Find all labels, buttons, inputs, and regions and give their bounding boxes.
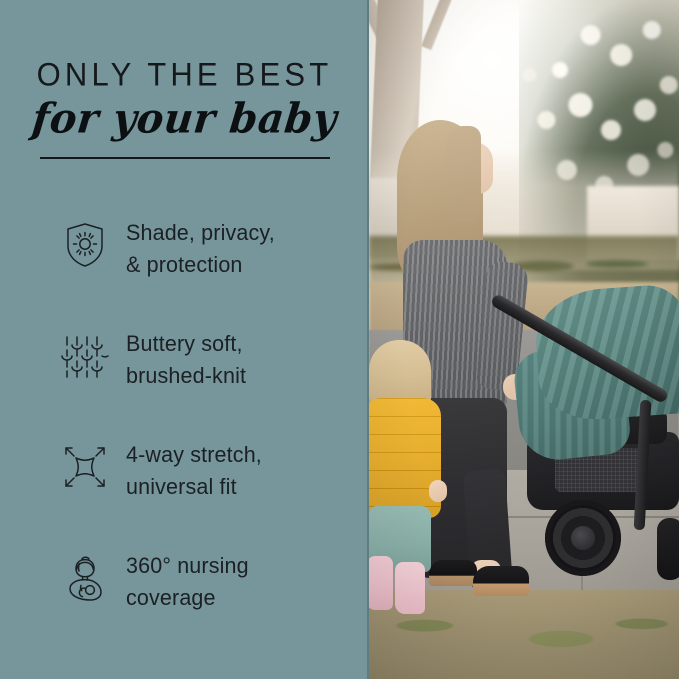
photo-woman-clog [429,560,477,586]
page-title: ONLY THE BEST [0,58,369,92]
photo-toddler-hand [429,480,447,502]
product-feature-graphic: ONLY THE BEST for your baby [0,0,679,679]
feature-list: Shade, privacy, & protection [0,208,369,652]
shield-sun-icon [58,216,112,274]
knit-stitch-icon [58,327,112,385]
photo-woman-clog [473,566,529,596]
photo-toddler-boot [369,556,393,610]
photo-woman-hair-front [447,126,481,222]
feature-label: 4-way stretch, universal fit [126,439,262,502]
photo-stroller-rear-wheel [657,518,679,580]
photo-toddler-jacket [369,398,441,518]
headline-block: ONLY THE BEST for your baby [0,58,369,141]
nursing-mother-icon [58,549,112,607]
photo-stroller-wheel-hub [571,526,595,550]
feature-item-shade-privacy: Shade, privacy, & protection [0,208,369,319]
feature-label: Shade, privacy, & protection [126,217,275,280]
four-way-stretch-icon [58,438,112,496]
feature-item-brushed-knit: Buttery soft, brushed-knit [0,319,369,430]
photo-toddler-boot [395,562,425,614]
divider [40,157,330,159]
lifestyle-photo [369,0,679,679]
feature-label: 360° nursing coverage [126,550,249,613]
feature-label: Buttery soft, brushed-knit [126,328,246,391]
feature-item-four-way-stretch: 4-way stretch, universal fit [0,430,369,541]
page-subtitle: for your baby [0,96,369,142]
feature-panel: ONLY THE BEST for your baby [0,0,369,679]
feature-item-nursing-coverage: 360° nursing coverage [0,541,369,652]
